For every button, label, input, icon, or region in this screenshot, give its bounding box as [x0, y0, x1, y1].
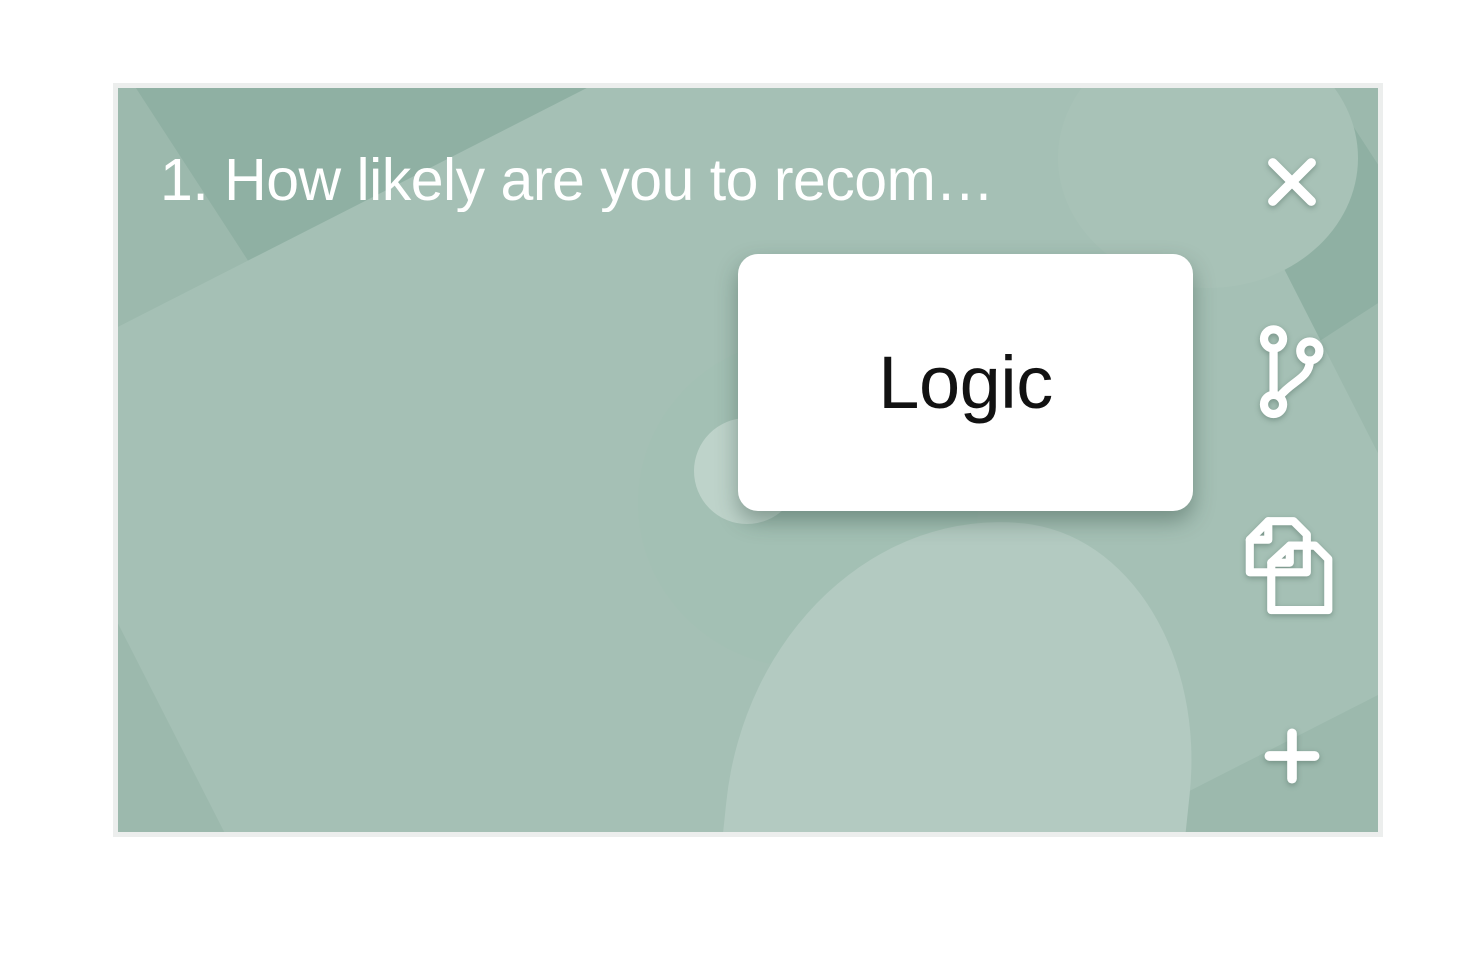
add-button[interactable] [1240, 704, 1344, 808]
close-button[interactable] [1240, 130, 1344, 234]
close-icon [1259, 149, 1325, 215]
screen: 1. How likely are you to recom… [0, 0, 1480, 954]
plus-icon [1258, 722, 1326, 790]
branch-icon [1257, 324, 1327, 420]
action-rail [1228, 88, 1378, 832]
duplicate-icon [1243, 516, 1341, 616]
question-card[interactable]: 1. How likely are you to recom… [113, 83, 1383, 837]
question-title: 1. How likely are you to recom… [160, 150, 1290, 212]
background-blob-bottom [700, 495, 1216, 832]
logic-tooltip-label: Logic [878, 346, 1052, 420]
logic-tooltip: Logic [738, 254, 1193, 511]
logic-button[interactable] [1240, 320, 1344, 424]
duplicate-button[interactable] [1240, 514, 1344, 618]
card-surface: 1. How likely are you to recom… [118, 88, 1378, 832]
